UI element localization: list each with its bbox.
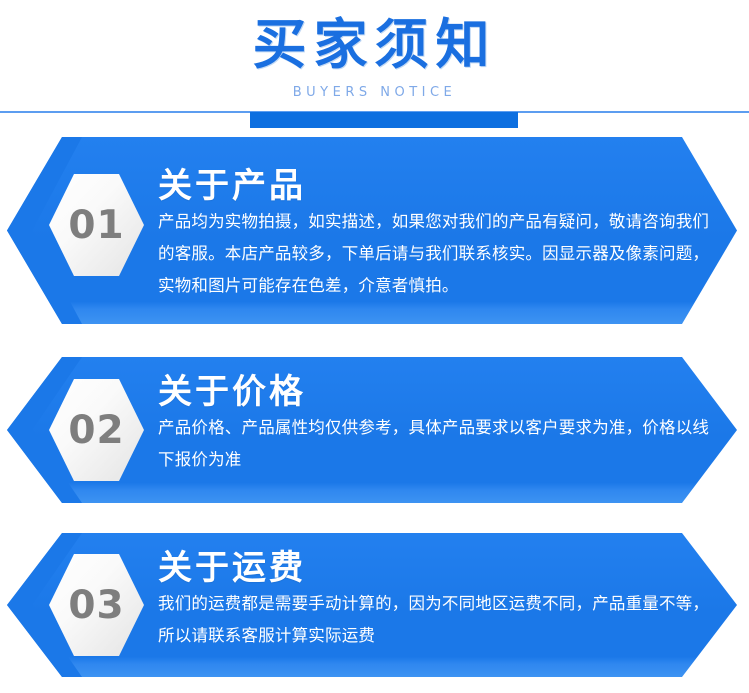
section-body-text: 产品均为实物拍摄，如实描述，如果您对我们的产品有疑问，敬请咨询我们的客服。本店产… — [158, 206, 711, 302]
notice-section-02: 02 关于价格 产品价格、产品属性均仅供参考，具体产品要求以客户要求为准，价格以… — [0, 350, 749, 510]
section-body-text: 我们的运费都是需要手动计算的，因为不同地区运费不同，产品重量不等，所以请联系客服… — [158, 588, 711, 652]
section-title: 关于运费 — [158, 548, 711, 588]
page-header: 买家须知 BUYERS NOTICE — [0, 0, 749, 128]
page-title: 买家须知 — [0, 12, 749, 78]
page-subtitle: BUYERS NOTICE — [0, 85, 749, 100]
notice-section-01: 01 关于产品 产品均为实物拍摄，如实描述，如果您对我们的产品有疑问，敬请咨询我… — [0, 128, 749, 333]
notice-sections: 01 关于产品 产品均为实物拍摄，如实描述，如果您对我们的产品有疑问，敬请咨询我… — [0, 128, 749, 683]
header-accent-bar — [250, 112, 518, 128]
notice-section-03: 03 关于运费 我们的运费都是需要手动计算的，因为不同地区运费不同，产品重量不等… — [0, 528, 749, 683]
section-title: 关于价格 — [158, 372, 711, 412]
section-title: 关于产品 — [158, 166, 711, 206]
section-body-text: 产品价格、产品属性均仅供参考，具体产品要求以客户要求为准，价格以线下报价为准 — [158, 412, 711, 476]
